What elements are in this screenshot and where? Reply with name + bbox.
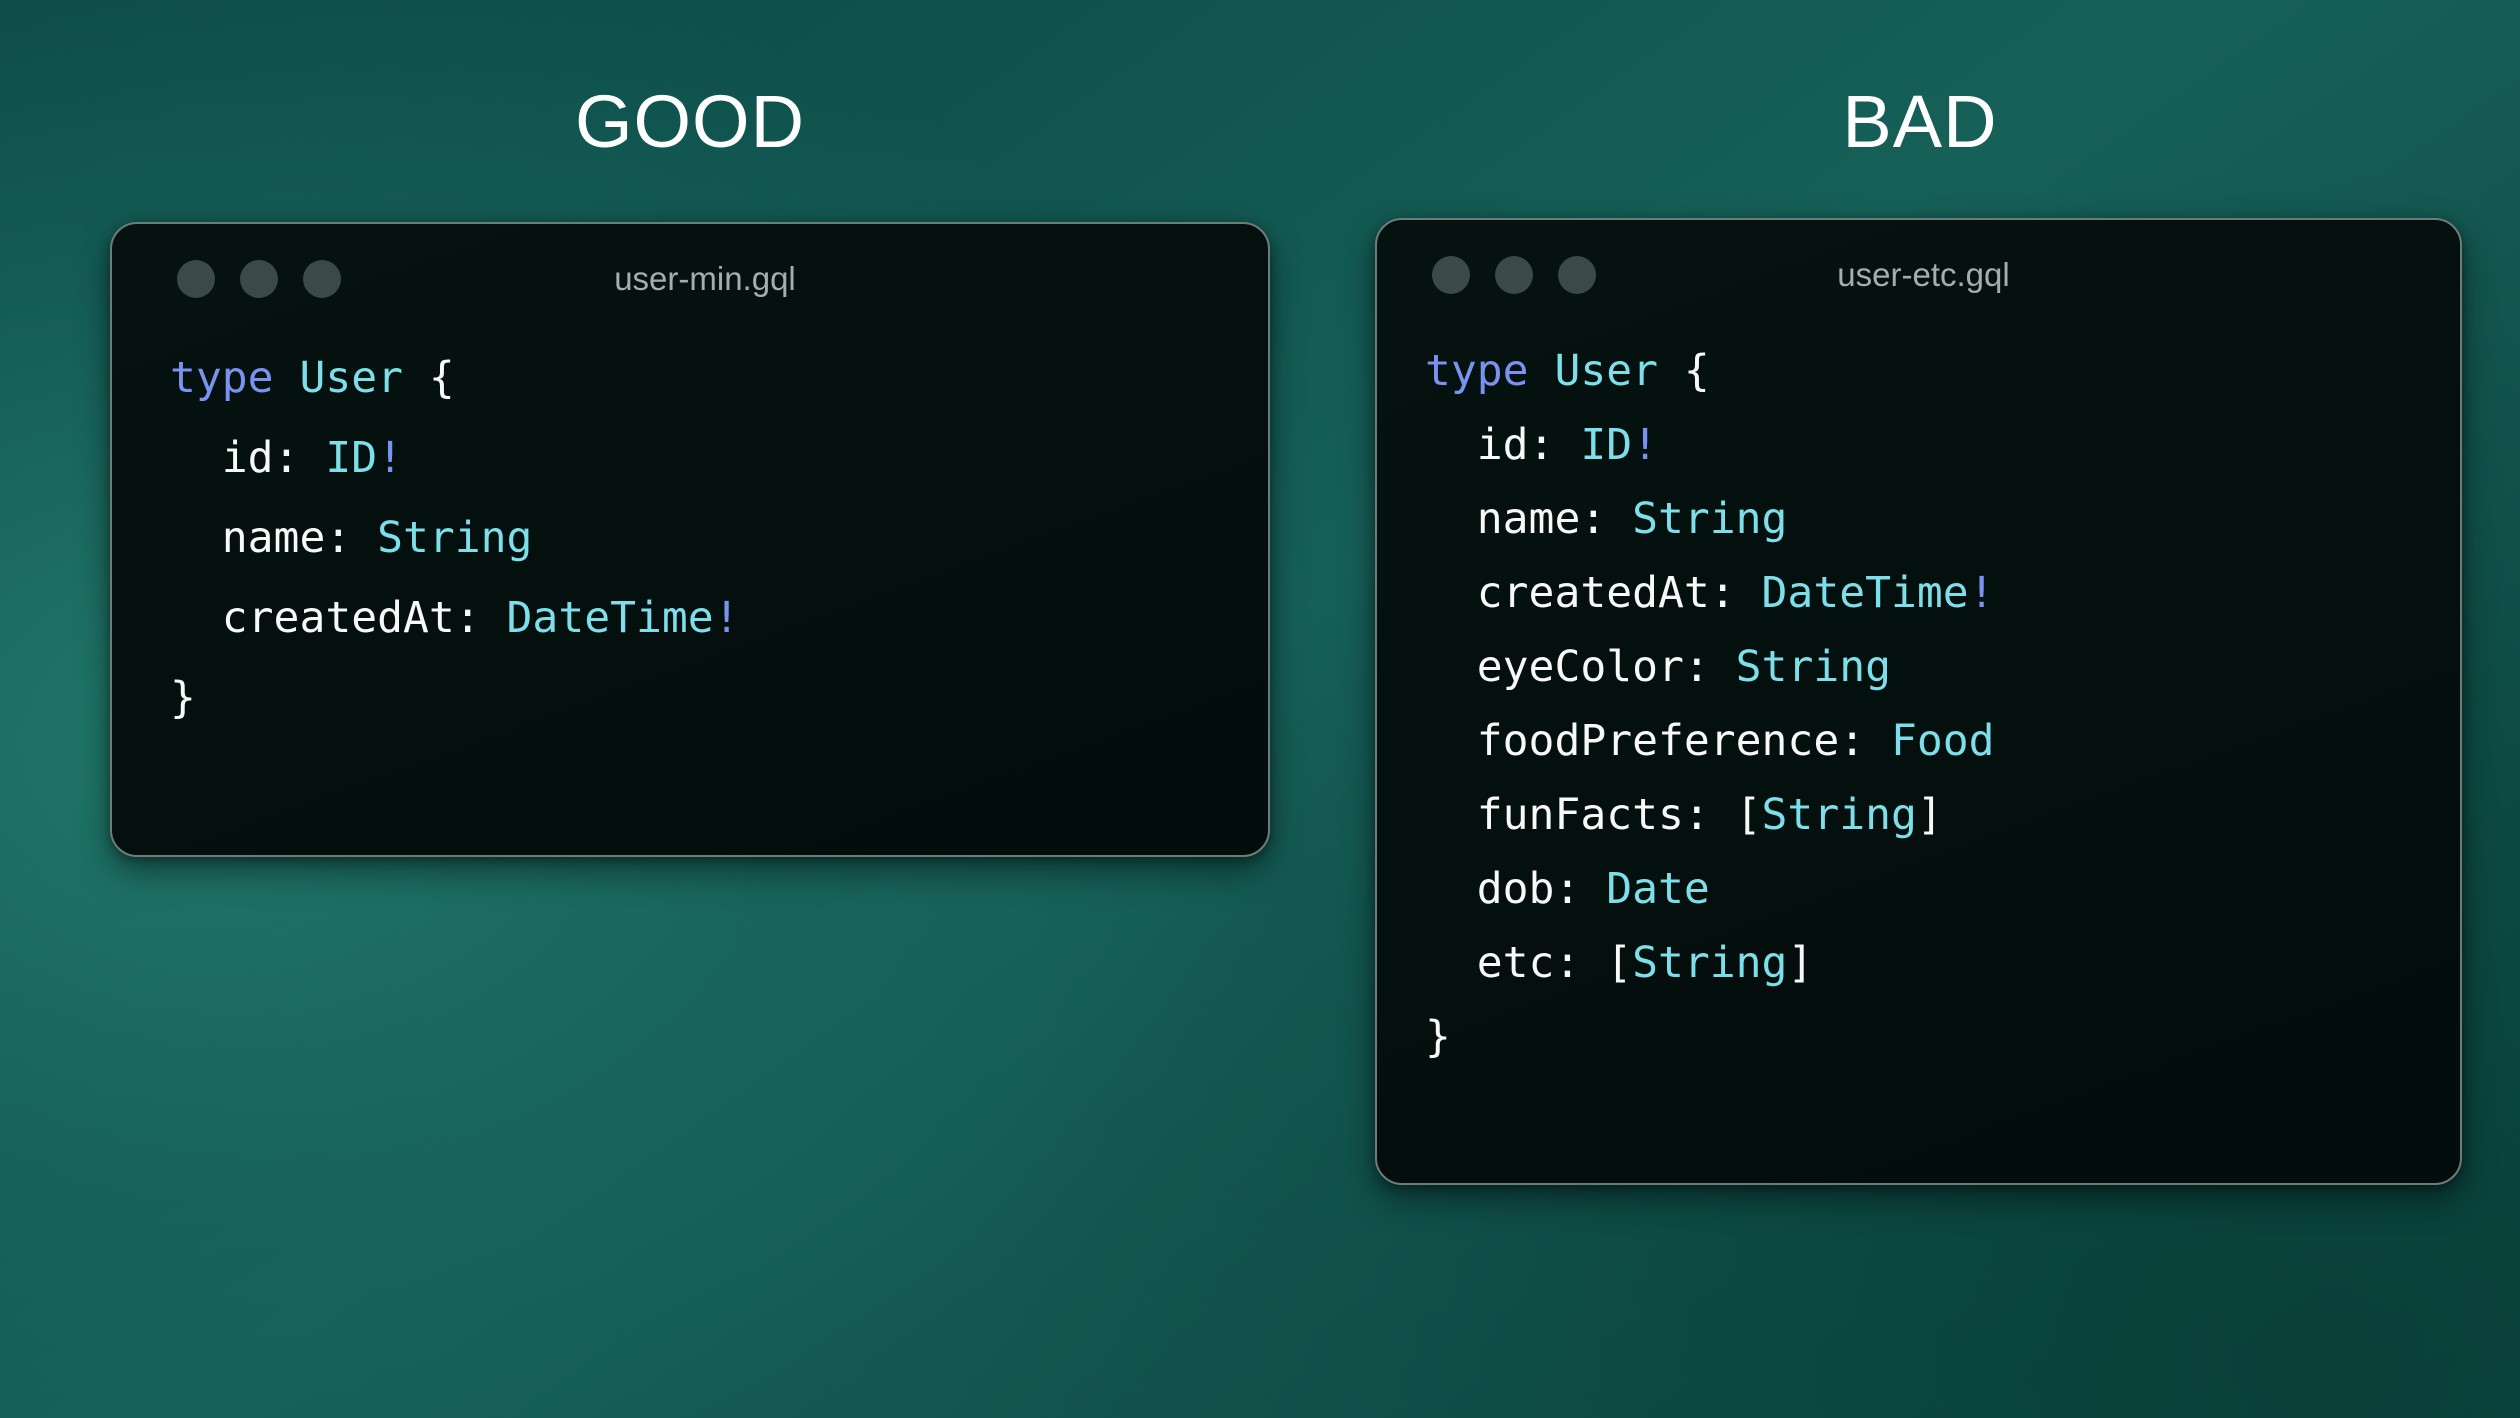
code-line: name: String: [170, 498, 1268, 578]
code-token: Date: [1606, 864, 1710, 914]
code-token: id:: [170, 433, 325, 483]
code-token: ID: [1580, 420, 1632, 470]
code-card-good: user-min.gql type User { id: ID! name: S…: [110, 222, 1270, 857]
code-card-bad: user-etc.gql type User { id: ID! name: S…: [1375, 218, 2462, 1185]
code-line: createdAt: DateTime!: [170, 578, 1268, 658]
code-token: ID: [325, 433, 377, 483]
code-token: DateTime: [1762, 568, 1969, 618]
code-line: etc: [String]: [1425, 926, 2460, 1000]
code-token: name:: [170, 513, 377, 563]
code-line: }: [170, 658, 1268, 738]
code-token: ]: [1917, 790, 1943, 840]
code-block-good: type User { id: ID! name: String created…: [112, 334, 1268, 738]
code-line: name: String: [1425, 482, 2460, 556]
code-token: String: [1762, 790, 1917, 840]
code-token: !: [377, 433, 403, 483]
code-token: createdAt:: [1425, 568, 1762, 618]
code-token: String: [1736, 642, 1891, 692]
code-line: type User {: [170, 338, 1268, 418]
code-token: {: [403, 353, 455, 403]
panel-title-bad: BAD: [1375, 85, 2465, 159]
code-token: !: [1632, 420, 1658, 470]
code-token: type: [170, 353, 299, 403]
code-line: id: ID!: [1425, 408, 2460, 482]
code-token: User: [1554, 346, 1658, 396]
code-token: !: [714, 593, 740, 643]
code-token: name:: [1425, 494, 1632, 544]
slide-canvas: GOOD user-min.gql type User { id: ID! na…: [0, 0, 2520, 1418]
code-token: id:: [1425, 420, 1580, 470]
code-line: funFacts: [String]: [1425, 778, 2460, 852]
code-token: etc: [: [1425, 938, 1632, 988]
code-line: dob: Date: [1425, 852, 2460, 926]
filename-label-bad: user-etc.gql: [1377, 256, 2460, 294]
code-line: type User {: [1425, 334, 2460, 408]
code-line: }: [1425, 1000, 2460, 1074]
code-token: String: [1632, 938, 1787, 988]
code-token: }: [170, 673, 196, 723]
code-line: id: ID!: [170, 418, 1268, 498]
code-block-bad: type User { id: ID! name: String created…: [1377, 330, 2460, 1074]
code-token: eyeColor:: [1425, 642, 1736, 692]
code-token: Food: [1891, 716, 1995, 766]
code-token: foodPreference:: [1425, 716, 1891, 766]
code-token: !: [1969, 568, 1995, 618]
panel-title-good: GOOD: [110, 85, 1270, 159]
code-token: DateTime: [507, 593, 714, 643]
code-token: String: [1632, 494, 1787, 544]
window-titlebar-good: user-min.gql: [112, 224, 1268, 334]
code-line: foodPreference: Food: [1425, 704, 2460, 778]
filename-label-good: user-min.gql: [112, 260, 1268, 298]
code-token: funFacts: [: [1425, 790, 1762, 840]
code-token: type: [1425, 346, 1554, 396]
window-titlebar-bad: user-etc.gql: [1377, 220, 2460, 330]
code-token: ]: [1787, 938, 1813, 988]
code-token: createdAt:: [170, 593, 507, 643]
code-token: User: [299, 353, 403, 403]
code-token: }: [1425, 1012, 1451, 1062]
code-line: createdAt: DateTime!: [1425, 556, 2460, 630]
code-token: dob:: [1425, 864, 1606, 914]
code-token: String: [377, 513, 532, 563]
code-token: {: [1658, 346, 1710, 396]
code-line: eyeColor: String: [1425, 630, 2460, 704]
